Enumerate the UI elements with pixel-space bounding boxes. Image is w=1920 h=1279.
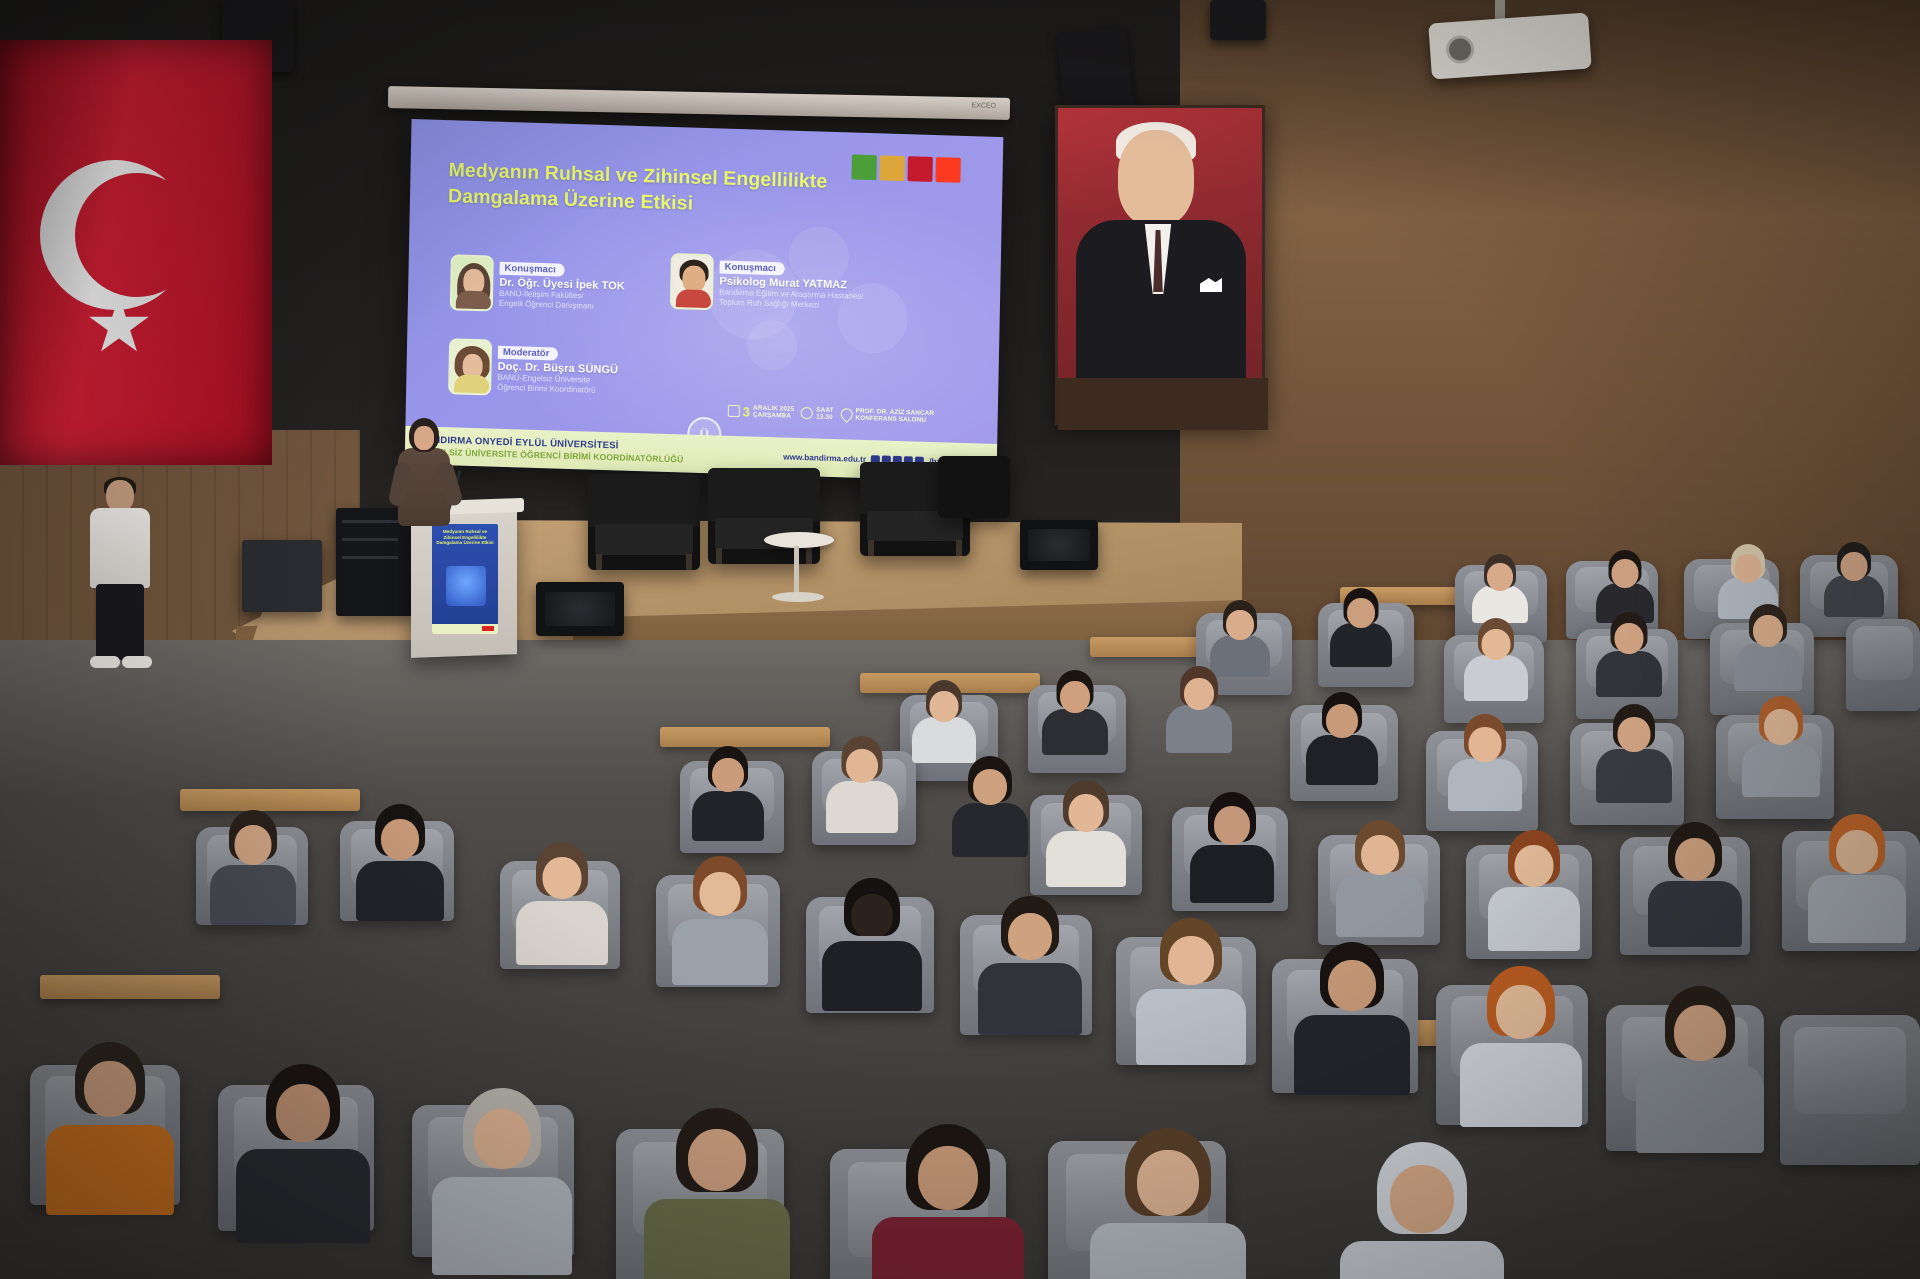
event-time-value: 13.30 xyxy=(816,413,833,421)
member-shoulders xyxy=(46,1125,174,1215)
audience-member xyxy=(692,749,764,841)
member-shoulders xyxy=(1636,1065,1764,1153)
member-shoulders xyxy=(1090,1223,1246,1279)
audience-member xyxy=(872,1127,1024,1279)
member-head xyxy=(543,857,582,899)
photo-body xyxy=(676,289,711,308)
ataturk-portrait xyxy=(1055,105,1265,425)
member-head xyxy=(1496,985,1546,1039)
audience-member xyxy=(822,881,922,1011)
event-venue: PROF. DR. AZİZ SANCAR KONFERANS SALONU xyxy=(840,407,934,425)
audience-member xyxy=(1336,823,1424,937)
member-head xyxy=(1008,913,1052,960)
photo-body xyxy=(456,290,491,309)
member-head xyxy=(851,894,893,939)
speaker-card-1: Konuşmacı Dr. Öğr. Üyesi İpek TOK BANÜ-İ… xyxy=(450,254,626,315)
ceiling-speaker xyxy=(1210,0,1266,40)
member-head xyxy=(930,691,959,722)
member-head xyxy=(1069,794,1104,832)
audience-member xyxy=(1210,603,1270,677)
member-head xyxy=(1487,563,1513,591)
presenter-at-podium xyxy=(396,418,452,528)
audience-member xyxy=(952,759,1028,857)
member-head xyxy=(1390,1165,1454,1233)
audience-member xyxy=(1648,825,1742,947)
member-head xyxy=(1615,623,1644,654)
calendar-icon xyxy=(728,405,740,417)
member-head xyxy=(1764,709,1798,745)
member-shoulders xyxy=(826,781,898,833)
member-shoulders xyxy=(1824,575,1884,617)
member-shoulders xyxy=(1330,623,1392,667)
audience-member xyxy=(1330,591,1392,667)
slide: Medyanın Ruhsal ve Zihinsel Engellilikte… xyxy=(405,119,1004,482)
member-shoulders xyxy=(356,861,444,921)
audience-member xyxy=(644,1111,790,1279)
member-shoulders xyxy=(872,1217,1024,1279)
member-head xyxy=(1618,717,1651,752)
member-head xyxy=(712,758,744,792)
member-shoulders xyxy=(1648,881,1742,947)
member-shoulders xyxy=(432,1177,572,1275)
audience-member xyxy=(1734,607,1802,691)
audience-seat xyxy=(1780,1015,1920,1165)
speaker-1-role: Konuşmacı xyxy=(499,262,564,277)
audience-member xyxy=(46,1045,174,1215)
rack-slot xyxy=(342,520,398,523)
speaker-2-role: Konuşmacı xyxy=(720,260,785,275)
audience-member xyxy=(210,813,296,925)
member-shoulders xyxy=(952,803,1028,857)
member-head xyxy=(1753,615,1783,647)
projection-screen: Medyanın Ruhsal ve Zihinsel Engellilikte… xyxy=(405,119,1004,482)
event-date-day: 3 xyxy=(743,405,750,418)
member-shoulders xyxy=(692,791,764,841)
flag-shading xyxy=(0,40,272,465)
member-head xyxy=(474,1109,530,1169)
audience-member xyxy=(1046,783,1126,887)
member-shoulders xyxy=(516,901,608,965)
audience-member xyxy=(1808,817,1906,943)
audience-member xyxy=(1042,673,1108,755)
member-shoulders xyxy=(210,865,296,925)
member-shoulders xyxy=(644,1199,790,1279)
moderator-text: Moderatör Doç. Dr. Büşra SÜNGÜ BANÜ-Enge… xyxy=(497,340,619,397)
presenter-face xyxy=(414,426,434,450)
member-head xyxy=(1328,960,1376,1011)
member-head xyxy=(1675,838,1715,881)
audience-member xyxy=(672,859,768,985)
member-head xyxy=(1469,727,1502,762)
member-head xyxy=(1168,936,1214,985)
audience-member xyxy=(826,739,898,833)
ceiling-speaker xyxy=(1056,27,1134,114)
audience-member xyxy=(1464,621,1528,701)
member-head xyxy=(1482,629,1511,660)
audience-member xyxy=(978,899,1082,1035)
turkish-flag xyxy=(0,40,272,465)
event-date: 3 ARALIK 2025 ÇARŞAMBA xyxy=(728,403,795,420)
moderator-role: Moderatör xyxy=(498,346,559,361)
member-shoulders xyxy=(672,919,768,985)
member-shoulders xyxy=(1136,989,1246,1065)
audience-desk xyxy=(180,789,360,811)
member-shoulders xyxy=(1734,643,1802,691)
speaker-card-2: Konuşmacı Psikolog Murat YATMAZ Bandırma… xyxy=(670,253,864,315)
audience-member xyxy=(1306,695,1378,785)
location-pin-icon xyxy=(838,406,855,423)
portrait-desk xyxy=(1058,378,1268,430)
speaker-1-photo xyxy=(450,254,494,311)
speaker-1-text: Konuşmacı Dr. Öğr. Üyesi İpek TOK BANÜ-İ… xyxy=(499,256,626,314)
audience-desk xyxy=(660,727,830,747)
audience-member xyxy=(1742,699,1820,797)
rack-slot xyxy=(342,538,398,541)
member-shoulders xyxy=(1742,743,1820,797)
audience-area xyxy=(0,545,1920,1279)
member-shoulders xyxy=(1294,1015,1410,1095)
member-shoulders xyxy=(1596,749,1672,803)
audience-member xyxy=(356,807,444,921)
member-shoulders xyxy=(1306,735,1378,785)
member-head xyxy=(1735,554,1762,583)
member-head xyxy=(1674,1005,1726,1061)
moderator-card: Moderatör Doç. Dr. Büşra SÜNGÜ BANÜ-Enge… xyxy=(448,338,619,399)
member-shoulders xyxy=(1464,655,1528,701)
event-time: SAAT 13.30 xyxy=(801,406,834,422)
audience-member xyxy=(236,1067,370,1243)
member-head xyxy=(1612,559,1639,588)
sdg-icon xyxy=(907,156,932,182)
footer-institution: BANDIRMA ONYEDİ EYLÜL ÜNİVERSİTESİ ENGEL… xyxy=(419,435,684,464)
member-shoulders xyxy=(1808,875,1906,943)
audience-member xyxy=(1824,545,1884,617)
member-head xyxy=(688,1129,746,1191)
audience-member xyxy=(1448,717,1522,811)
projector xyxy=(1428,12,1592,79)
member-head xyxy=(1841,552,1868,581)
member-shoulders xyxy=(1340,1241,1504,1279)
speaker-2-text: Konuşmacı Psikolog Murat YATMAZ Bandırma… xyxy=(719,254,864,312)
stage-storage-box xyxy=(938,456,1010,518)
member-head xyxy=(276,1084,330,1142)
clock-icon xyxy=(801,407,813,419)
member-shoulders xyxy=(1596,651,1662,697)
podium-panel-title: Medyanın Ruhsal ve Zihinsel Engellilikte… xyxy=(436,529,494,546)
audience-member xyxy=(1090,1131,1246,1279)
member-head xyxy=(1326,704,1358,738)
footer-website: www.bandirma.edu.tr xyxy=(783,452,866,464)
audience-member xyxy=(1636,989,1764,1153)
member-shoulders xyxy=(1166,705,1232,753)
member-shoulders xyxy=(1448,759,1522,811)
member-head xyxy=(1347,598,1375,628)
speaker-2-photo xyxy=(670,253,714,310)
projector-lens xyxy=(1445,35,1475,65)
member-head xyxy=(1836,830,1878,874)
audience-member xyxy=(912,683,976,763)
audience-member xyxy=(1596,615,1662,697)
member-shoulders xyxy=(1046,831,1126,887)
member-shoulders xyxy=(1460,1043,1582,1127)
member-head xyxy=(700,872,741,916)
audience-member xyxy=(1190,795,1274,903)
member-head xyxy=(84,1061,136,1117)
member-shoulders xyxy=(978,963,1082,1035)
member-head xyxy=(1226,610,1254,640)
member-head xyxy=(918,1146,978,1210)
audience-member xyxy=(1460,969,1582,1127)
screen-brand-label: EXCEO xyxy=(971,102,996,109)
audience-member xyxy=(1472,557,1528,623)
event-venue-line2: KONFERANS SALONU xyxy=(855,415,934,425)
audience-seat xyxy=(1846,619,1920,711)
member-head xyxy=(1214,806,1250,845)
audience-member xyxy=(516,845,608,965)
member-head xyxy=(381,819,419,860)
member-head xyxy=(973,769,1007,805)
member-head xyxy=(846,749,878,783)
armchair-back xyxy=(588,474,700,527)
portrait-head xyxy=(1118,130,1194,226)
audience-member xyxy=(1136,921,1246,1065)
audience-member xyxy=(1294,945,1410,1095)
member-head xyxy=(1515,845,1554,887)
event-date-weekday: ÇARŞAMBA xyxy=(753,412,794,421)
sdg-icon xyxy=(879,155,904,181)
member-head xyxy=(1060,681,1090,713)
member-shoulders xyxy=(822,941,922,1011)
member-shoulders xyxy=(1042,709,1108,755)
member-shoulders xyxy=(912,717,976,763)
photo-body xyxy=(454,374,489,393)
audience-member xyxy=(1340,1145,1504,1279)
sdg-icon xyxy=(935,157,960,183)
member-shoulders xyxy=(1190,845,1274,903)
audience-desk xyxy=(40,975,220,999)
audience-member xyxy=(1488,833,1580,951)
armchair-back xyxy=(708,468,820,521)
audience-member xyxy=(1596,707,1672,803)
member-shoulders xyxy=(1336,875,1424,937)
member-head xyxy=(235,825,272,865)
member-head xyxy=(1184,678,1214,710)
audience-member xyxy=(432,1091,572,1275)
member-shoulders xyxy=(236,1149,370,1243)
conference-hall-photo: EXCEO Medyanın Ruhsal ve Zihinsel Engell… xyxy=(0,0,1920,1279)
member-shoulders xyxy=(1488,887,1580,951)
member-head xyxy=(1137,1150,1199,1216)
audience-member xyxy=(1166,669,1232,753)
moderator-photo xyxy=(448,338,492,395)
member-head xyxy=(1361,835,1399,875)
